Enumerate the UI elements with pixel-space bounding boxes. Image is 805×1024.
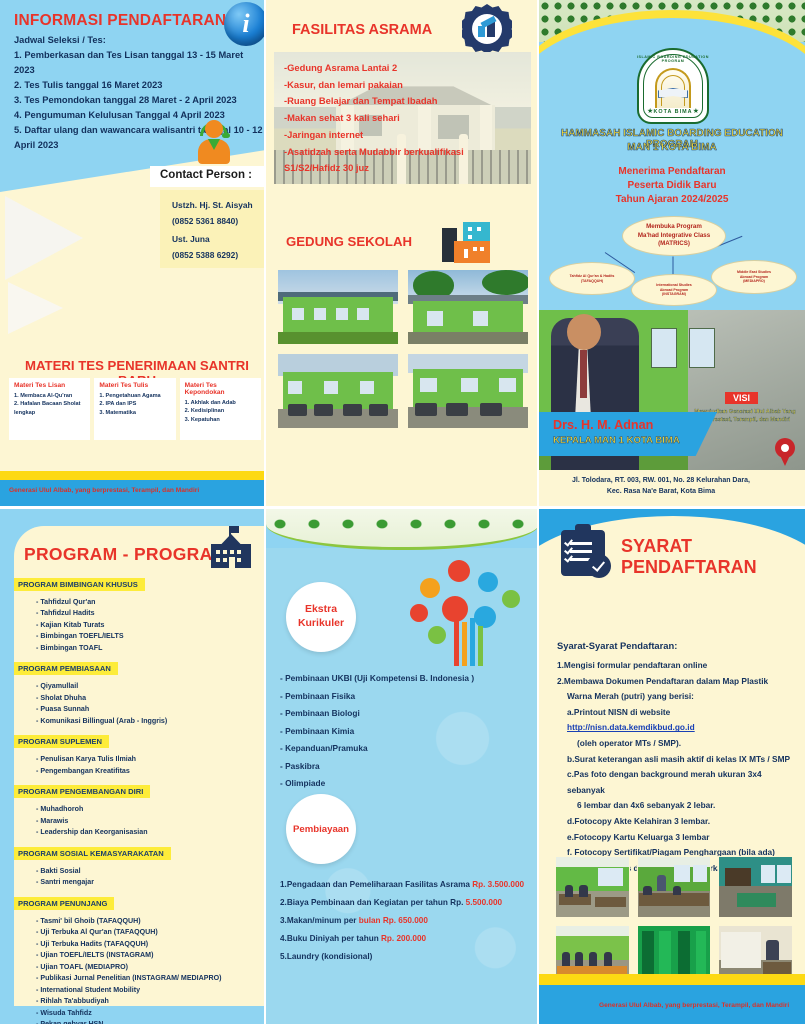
contact-details-box: Ustzh. Hj. St. Aisyah (0852 5361 8840) U…: [160, 190, 266, 268]
activity-photo: [718, 856, 793, 918]
syarat-list: 1.Mengisi formular pendaftaran online 2.…: [557, 658, 793, 876]
gedung-photo-grid: [276, 268, 530, 430]
contact-phone[interactable]: (0852 5388 6292): [172, 250, 238, 260]
fee-row: 5.Laundry (kondisional): [280, 948, 532, 966]
matrics-node-tafaqquh: Tahfidz Al Qur'an & Hadits (TAFAQQUH): [549, 262, 635, 295]
program-item: - Santri mengajar: [36, 877, 264, 888]
materi-item: 2. Hafalan Bacaan Sholat lengkap: [14, 400, 87, 417]
logo-bottom-text: KOTA BIMA: [637, 109, 709, 115]
academic-year: Tahun Ajaran 2024/2025: [545, 194, 799, 205]
footer-ribbon: Generasi Ulul Albab, yang berprestasi, T…: [0, 480, 266, 508]
program-section-items: - Muhadhoroh - Marawis - Leadership dan …: [36, 804, 264, 838]
fasilitas-item: -Gedung Asrama Lantai 2: [284, 60, 526, 77]
ekstra-item: - Olimpiade: [280, 775, 530, 793]
panel-program-program: PROGRAM - PROGRAM PROGRAM BIMBINGAN KHUS…: [0, 508, 266, 1024]
syarat-item: Warna Merah (putri) yang berisi:: [557, 689, 793, 705]
materi-column: Materi Tes Kepondokan 1. Akhlak dan Adab…: [180, 378, 261, 440]
matrics-node-instagram: International Studies Abroad Program (IN…: [631, 274, 717, 306]
program-item: - Tahfidzul Hadits: [36, 608, 264, 619]
program-section-head: PROGRAM PENGEMBANGAN DIRI: [14, 785, 150, 798]
program-item: - Uji Terbuka Hadits (TAFAQQUH): [36, 939, 264, 950]
program-section-items: - Penulisan Karya Tulis Ilmiah - Pengemb…: [36, 754, 264, 777]
fee-row: 1.Pengadaan dan Pemeliharaan Fasilitas A…: [280, 876, 532, 894]
ekstra-item: - Kepanduan/Pramuka: [280, 740, 530, 758]
program-section-items: - Qiyamullail - Sholat Dhuha - Puasa Sun…: [36, 681, 264, 727]
ekstra-item: - Pembinaan Biologi: [280, 705, 530, 723]
program-item: - Komunikasi Billingual (Arab - Inggris): [36, 716, 264, 727]
program-item: - Pekan gebyar HSN: [36, 1019, 264, 1024]
matrics-center-node: Membuka Program Ma'had Integrative Class…: [622, 216, 726, 256]
clipboard-check-icon: [561, 524, 605, 576]
syarat-item: 1.Mengisi formular pendaftaran online: [557, 658, 793, 674]
program-section-head: PROGRAM SOSIAL KEMASYARAKATAN: [14, 847, 171, 860]
program-item: - Bimbingan TOEFL/IELTS: [36, 631, 264, 642]
panel-divider: [537, 0, 539, 1024]
pembiayaan-label: Pembiayaan: [293, 824, 349, 835]
schedule-item: 1. Pemberkasan dan Tes Lisan tanggal 13 …: [14, 48, 264, 78]
materi-item: 1. Pengetahuan Agama: [99, 392, 172, 400]
program-item: - Ujian TOEFL/IELTS (INSTAGRAM): [36, 950, 264, 961]
fasilitas-item: -Makan sehat 3 kali sehari: [284, 110, 526, 127]
matrics-center-line2: Ma'had Integrative Class: [638, 232, 710, 241]
matrics-center-line3: (MATRICS): [658, 240, 690, 249]
buildings-icon: [442, 222, 504, 268]
floral-band-decoration: [266, 508, 539, 550]
program-item: - Penulisan Karya Tulis Ilmiah: [36, 754, 264, 765]
program-item: - Puasa Sunnah: [36, 704, 264, 715]
accept-line-1: Menerima Pendaftaran: [545, 166, 799, 177]
ekstra-kurikuler-bubble: Ekstra Kurikuler: [286, 582, 356, 652]
fasilitas-item: -Kasur, dan lemari pakaian: [284, 77, 526, 94]
activity-photo-grid: [555, 856, 793, 987]
accept-line-2: Peserta Didik Baru: [545, 180, 799, 191]
pembiayaan-list: 1.Pengadaan dan Pemeliharaan Fasilitas A…: [280, 876, 532, 965]
gedung-photo: [276, 352, 400, 430]
fee-amount: 5.500.000: [466, 898, 502, 907]
syarat-item: b.Surat keterangan asli masih aktif di k…: [557, 752, 793, 768]
syarat-item: e.Fotocopy Kartu Keluarga 3 lembar: [557, 830, 793, 846]
syarat-item: 6 lembar dan 4x6 sebanyak 2 lebar.: [557, 798, 793, 814]
panel-fasilitas-asrama: FASILITAS ASRAMA -Gedung Asrama Lantai 2…: [266, 0, 539, 508]
visi-label: VISI: [725, 392, 758, 404]
panel-informasi-pendaftaran: INFORMASI PENDAFTARAN i Jadwal Seleksi /…: [0, 0, 266, 508]
ekstra-item: - Pembinaan Fisika: [280, 688, 530, 706]
program-item: - Tahfidzul Qur'an: [36, 597, 264, 608]
schedule-item: 2. Tes Tulis tanggal 16 Maret 2023: [14, 78, 264, 93]
syarat-item: a.Printout NISN di website http://nisn.d…: [557, 705, 793, 736]
program-item: - Publikasi Jurnal Penelitian (INSTAGRAM…: [36, 973, 264, 984]
activity-photo: [555, 856, 630, 918]
brochure-page: INFORMASI PENDAFTARAN i Jadwal Seleksi /…: [0, 0, 805, 1024]
node-line3: (MEDIAPRO): [743, 279, 765, 284]
program-section-head: PROGRAM BIMBINGAN KHUSUS: [14, 578, 145, 591]
fee-row: 3.Makan/minum per bulan Rp. 650.000: [280, 912, 532, 930]
yellow-ribbon: [0, 471, 266, 480]
address-line-1: Jl. Tolodara, RT. 003, RW. 001, No. 28 K…: [553, 476, 769, 487]
panel-divider: [264, 0, 266, 1024]
program-item: - Bimbingan TOAFL: [36, 643, 264, 654]
program-item: - Uji Terbuka Al Qur'an (TAFAQQUH): [36, 927, 264, 938]
panel-divider: [0, 506, 805, 509]
schedule-item: 3. Tes Pemondokan tanggal 28 Maret - 2 A…: [14, 93, 264, 108]
fasilitas-item: S1/S2/Hafidz 30 juz: [284, 160, 526, 177]
program-section-head: PROGRAM PENUNJANG: [14, 897, 114, 910]
ekstra-item: - Pembinaan Kimia: [280, 723, 530, 741]
materi-item: 2. Kedisiplinan: [185, 407, 258, 415]
gedung-photo: [406, 268, 530, 346]
panel-hammasah-program: ISLAMIC BOARDING EDUCATION PROGRAM ★ ★ K…: [539, 0, 805, 508]
ekstra-list: - Pembinaan UKBI (Uji Kompetensi B. Indo…: [280, 670, 530, 793]
program-item: - Sholat Dhuha: [36, 693, 264, 704]
node-line3: (INSTAGRAM): [662, 292, 686, 297]
gedung-photo: [406, 352, 530, 430]
logo-top-text: ISLAMIC BOARDING EDUCATION PROGRAM: [637, 55, 709, 63]
fee-text: 5.Laundry (kondisional): [280, 952, 372, 961]
materi-column-head: Materi Tes Kepondokan: [185, 382, 258, 396]
fasilitas-list: -Gedung Asrama Lantai 2 -Kasur, dan lema…: [284, 60, 526, 177]
program-title: PROGRAM - PROGRAM: [24, 544, 227, 565]
program-item: - Leadership dan Keorganisasian: [36, 827, 264, 838]
bubble-line-2: Kurikuler: [298, 617, 344, 631]
informasi-title: INFORMASI PENDAFTARAN: [14, 12, 226, 30]
syarat-item-text: a.Printout NISN di website: [567, 707, 670, 717]
footer-tagline: Generasi Ulul Albab, yang berprestasi, T…: [9, 487, 199, 494]
fee-amount: Rp. 200.000: [381, 934, 426, 943]
program-item: - Kajian Kitab Turats: [36, 620, 264, 631]
materi-item: 3. Kepatuhan: [185, 416, 258, 424]
footer-tagline: Generasi Ulul Albab, yang berprestasi, T…: [599, 1002, 789, 1009]
matrics-diagram: Membuka Program Ma'had Integrative Class…: [545, 216, 799, 306]
program-section-items: - Tasmi' bil Ghoib (TAFAQQUH) - Uji Terb…: [36, 916, 264, 1024]
program-item: - Bakti Sosial: [36, 866, 264, 877]
fee-text: 4.Buku Diniyah per tahun: [280, 934, 381, 943]
principal-role: KEPALA MAN 1 KOTA BIMA: [553, 435, 680, 446]
syarat-item: d.Fotocopy Akte Kelahiran 3 lembar.: [557, 814, 793, 830]
fee-row: 2.Biaya Pembinaan dan Kegiatan per tahun…: [280, 894, 532, 912]
panel-ekstra-kurikuler: Ekstra Kurikuler - Pembinaan UKBI (Uji K…: [266, 508, 539, 1024]
program-item: - Qiyamullail: [36, 681, 264, 692]
program-item: - Marawis: [36, 816, 264, 827]
materi-column-head: Materi Tes Lisan: [14, 382, 87, 389]
fasilitas-item: -Ruang Belajar dan Tempat Ibadah: [284, 93, 526, 110]
contact-name: Ustzh. Hj. St. Aisyah: [172, 200, 253, 210]
fasilitas-item: -Asatidzah serta Mudabbir berkualifikasi: [284, 144, 526, 161]
node-line2: (TAFAQQUH): [581, 279, 603, 284]
ekstra-item: - Paskibra: [280, 758, 530, 776]
gedung-photo: [276, 268, 400, 346]
materi-item: 1. Membaca Al-Qu'ran: [14, 392, 87, 400]
contact-person-label-bar: Contact Person :: [150, 166, 266, 187]
fee-amount: Rp. 3.500.000: [472, 880, 524, 889]
school-name: MAN 1 KOTA BIMA: [545, 142, 799, 153]
address-text: Jl. Tolodara, RT. 003, RW. 001, No. 28 K…: [553, 476, 769, 498]
fee-text: 3.Makan/minum per: [280, 916, 359, 925]
program-item: - Muhadhoroh: [36, 804, 264, 815]
ekstra-item: - Pembinaan UKBI (Uji Kompetensi B. Indo…: [280, 670, 530, 688]
syarat-title: SYARAT PENDAFTARAN: [621, 536, 805, 578]
program-item: - Pengembangan Kreatifitas: [36, 766, 264, 777]
syarat-item: c.Pas foto dengan background merah ukura…: [557, 767, 793, 798]
map-pin-icon: [775, 438, 795, 466]
school-building-icon: [208, 530, 254, 570]
matrics-node-mediapro: Middle East Studies Abroad Program (MEDI…: [711, 260, 797, 294]
materi-item: 3. Matematika: [99, 409, 172, 417]
materi-column: Materi Tes Lisan 1. Membaca Al-Qu'ran 2.…: [9, 378, 90, 440]
program-sections: PROGRAM BIMBINGAN KHUSUS - Tahfidzul Qur…: [14, 574, 264, 1024]
syarat-item: (oleh operator MTs / SMP).: [557, 736, 793, 752]
education-tree-icon: [406, 560, 528, 668]
program-item: - Rihlah Ta'abbudiyah: [36, 996, 264, 1007]
fee-amount: bulan Rp. 650.000: [359, 916, 428, 925]
syarat-head: Syarat-Syarat Pendaftaran:: [557, 640, 677, 651]
materi-item: 1. Akhlak dan Adab: [185, 399, 258, 407]
address-line-2: Kec. Rasa Na'e Barat, Kota Bima: [553, 487, 769, 498]
program-item: - Ujian TOAFL (MEDIAPRO): [36, 962, 264, 973]
yellow-ribbon: [539, 974, 805, 985]
schedule-lead: Jadwal Seleksi / Tes:: [14, 33, 264, 48]
fee-text: 1.Pengadaan dan Pemeliharaan Fasilitas A…: [280, 880, 472, 889]
fee-row: 4.Buku Diniyah per tahun Rp. 200.000: [280, 930, 532, 948]
program-section-head: PROGRAM PEMBIASAAN: [14, 662, 118, 675]
materi-column-head: Materi Tes Tulis: [99, 382, 172, 389]
program-section-head: PROGRAM SUPLEMEN: [14, 735, 109, 748]
pembiayaan-bubble: Pembiayaan: [286, 794, 356, 864]
materi-column: Materi Tes Tulis 1. Pengetahuan Agama 2.…: [94, 378, 175, 440]
panel-syarat-pendaftaran: SYARAT PENDAFTARAN Syarat-Syarat Pendaft…: [539, 508, 805, 1024]
gear-icon: [462, 4, 512, 54]
materi-item: 2. IPA dan IPS: [99, 400, 172, 408]
triangle-decoration: [5, 196, 83, 280]
syarat-item: 2.Membawa Dokumen Pendaftaran dalam Map …: [557, 674, 793, 690]
program-item: - Tasmi' bil Ghoib (TAFAQQUH): [36, 916, 264, 927]
school-logo: ISLAMIC BOARDING EDUCATION PROGRAM ★ ★ K…: [637, 48, 709, 124]
materi-columns: Materi Tes Lisan 1. Membaca Al-Qu'ran 2.…: [9, 378, 261, 440]
contact-phone[interactable]: (0852 5361 8840): [172, 216, 238, 226]
gedung-sekolah-title: GEDUNG SEKOLAH: [286, 234, 412, 249]
matrics-center-line1: Membuka Program: [646, 223, 702, 232]
program-item: - Wisuda Tahfidz: [36, 1008, 264, 1019]
bubble-line-1: Ekstra: [298, 603, 344, 617]
principal-name: Drs. H. M. Adnan: [553, 418, 653, 432]
contact-person-label: Contact Person :: [160, 169, 252, 181]
fasilitas-title: FASILITAS ASRAMA: [292, 22, 432, 38]
headset-person-icon: [196, 118, 232, 166]
fasilitas-item: -Jaringan internet: [284, 127, 526, 144]
program-item: - International Student Mobility: [36, 985, 264, 996]
triangle-decoration: [8, 282, 63, 334]
program-section-items: - Tahfidzul Qur'an - Tahfidzul Hadits - …: [36, 597, 264, 654]
fee-text: 2.Biaya Pembinaan dan Kegiatan per tahun…: [280, 898, 466, 907]
activity-photo: [637, 856, 712, 918]
contact-name: Ust. Juna: [172, 234, 210, 244]
program-section-items: - Bakti Sosial - Santri mengajar: [36, 866, 264, 889]
nisn-website-link[interactable]: http://nisn.data.kemdikbud.go.id: [567, 722, 695, 732]
